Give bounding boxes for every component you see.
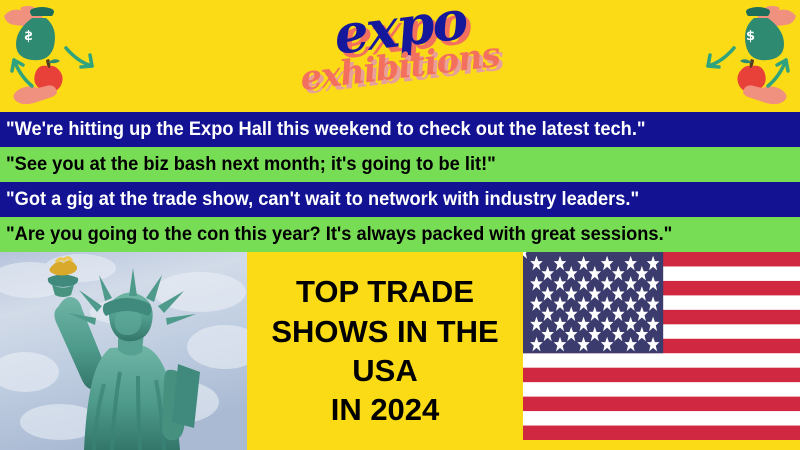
- quote-text: "Got a gig at the trade show, can't wait…: [6, 190, 639, 209]
- hand-money-bag-apple-exchange-icon: $: [2, 4, 110, 104]
- statue-of-liberty-illustration: [0, 252, 247, 450]
- us-flag-icon: [523, 252, 800, 440]
- poster-canvas: $ expo exhibitions: [0, 0, 800, 450]
- united-states-flag: [523, 252, 800, 440]
- header-banner: $ expo exhibitions: [0, 0, 800, 112]
- title-line: TOP TRADE: [296, 272, 474, 311]
- statue-of-liberty-photo: [0, 252, 247, 450]
- quote-text: "See you at the biz bash next month; it'…: [6, 155, 496, 174]
- page-title: TOP TRADE SHOWS IN THE USA IN 2024: [247, 252, 523, 450]
- svg-text:$: $: [746, 29, 755, 44]
- main-content: TOP TRADE SHOWS IN THE USA IN 2024: [0, 252, 800, 450]
- brand-logo: expo exhibitions: [270, 2, 530, 108]
- title-line: IN 2024: [331, 390, 440, 429]
- quote-bar: "We're hitting up the Expo Hall this wee…: [0, 112, 800, 147]
- decoration-left-trade-exchange: $: [2, 4, 110, 104]
- quote-text: "Are you going to the con this year? It'…: [6, 225, 672, 244]
- svg-text:$: $: [24, 29, 33, 44]
- logo-secondary-text: exhibitions: [298, 38, 501, 96]
- quote-text: "We're hitting up the Expo Hall this wee…: [6, 120, 646, 139]
- title-line: SHOWS IN THE: [271, 312, 498, 351]
- quote-bar-list: "We're hitting up the Expo Hall this wee…: [0, 112, 800, 252]
- quote-bar: "Are you going to the con this year? It'…: [0, 217, 800, 252]
- title-line: USA: [352, 351, 417, 390]
- quote-bar: "See you at the biz bash next month; it'…: [0, 147, 800, 182]
- quote-bar: "Got a gig at the trade show, can't wait…: [0, 182, 800, 217]
- hand-money-bag-apple-exchange-icon: $: [690, 4, 798, 104]
- decoration-right-trade-exchange: $: [690, 4, 798, 104]
